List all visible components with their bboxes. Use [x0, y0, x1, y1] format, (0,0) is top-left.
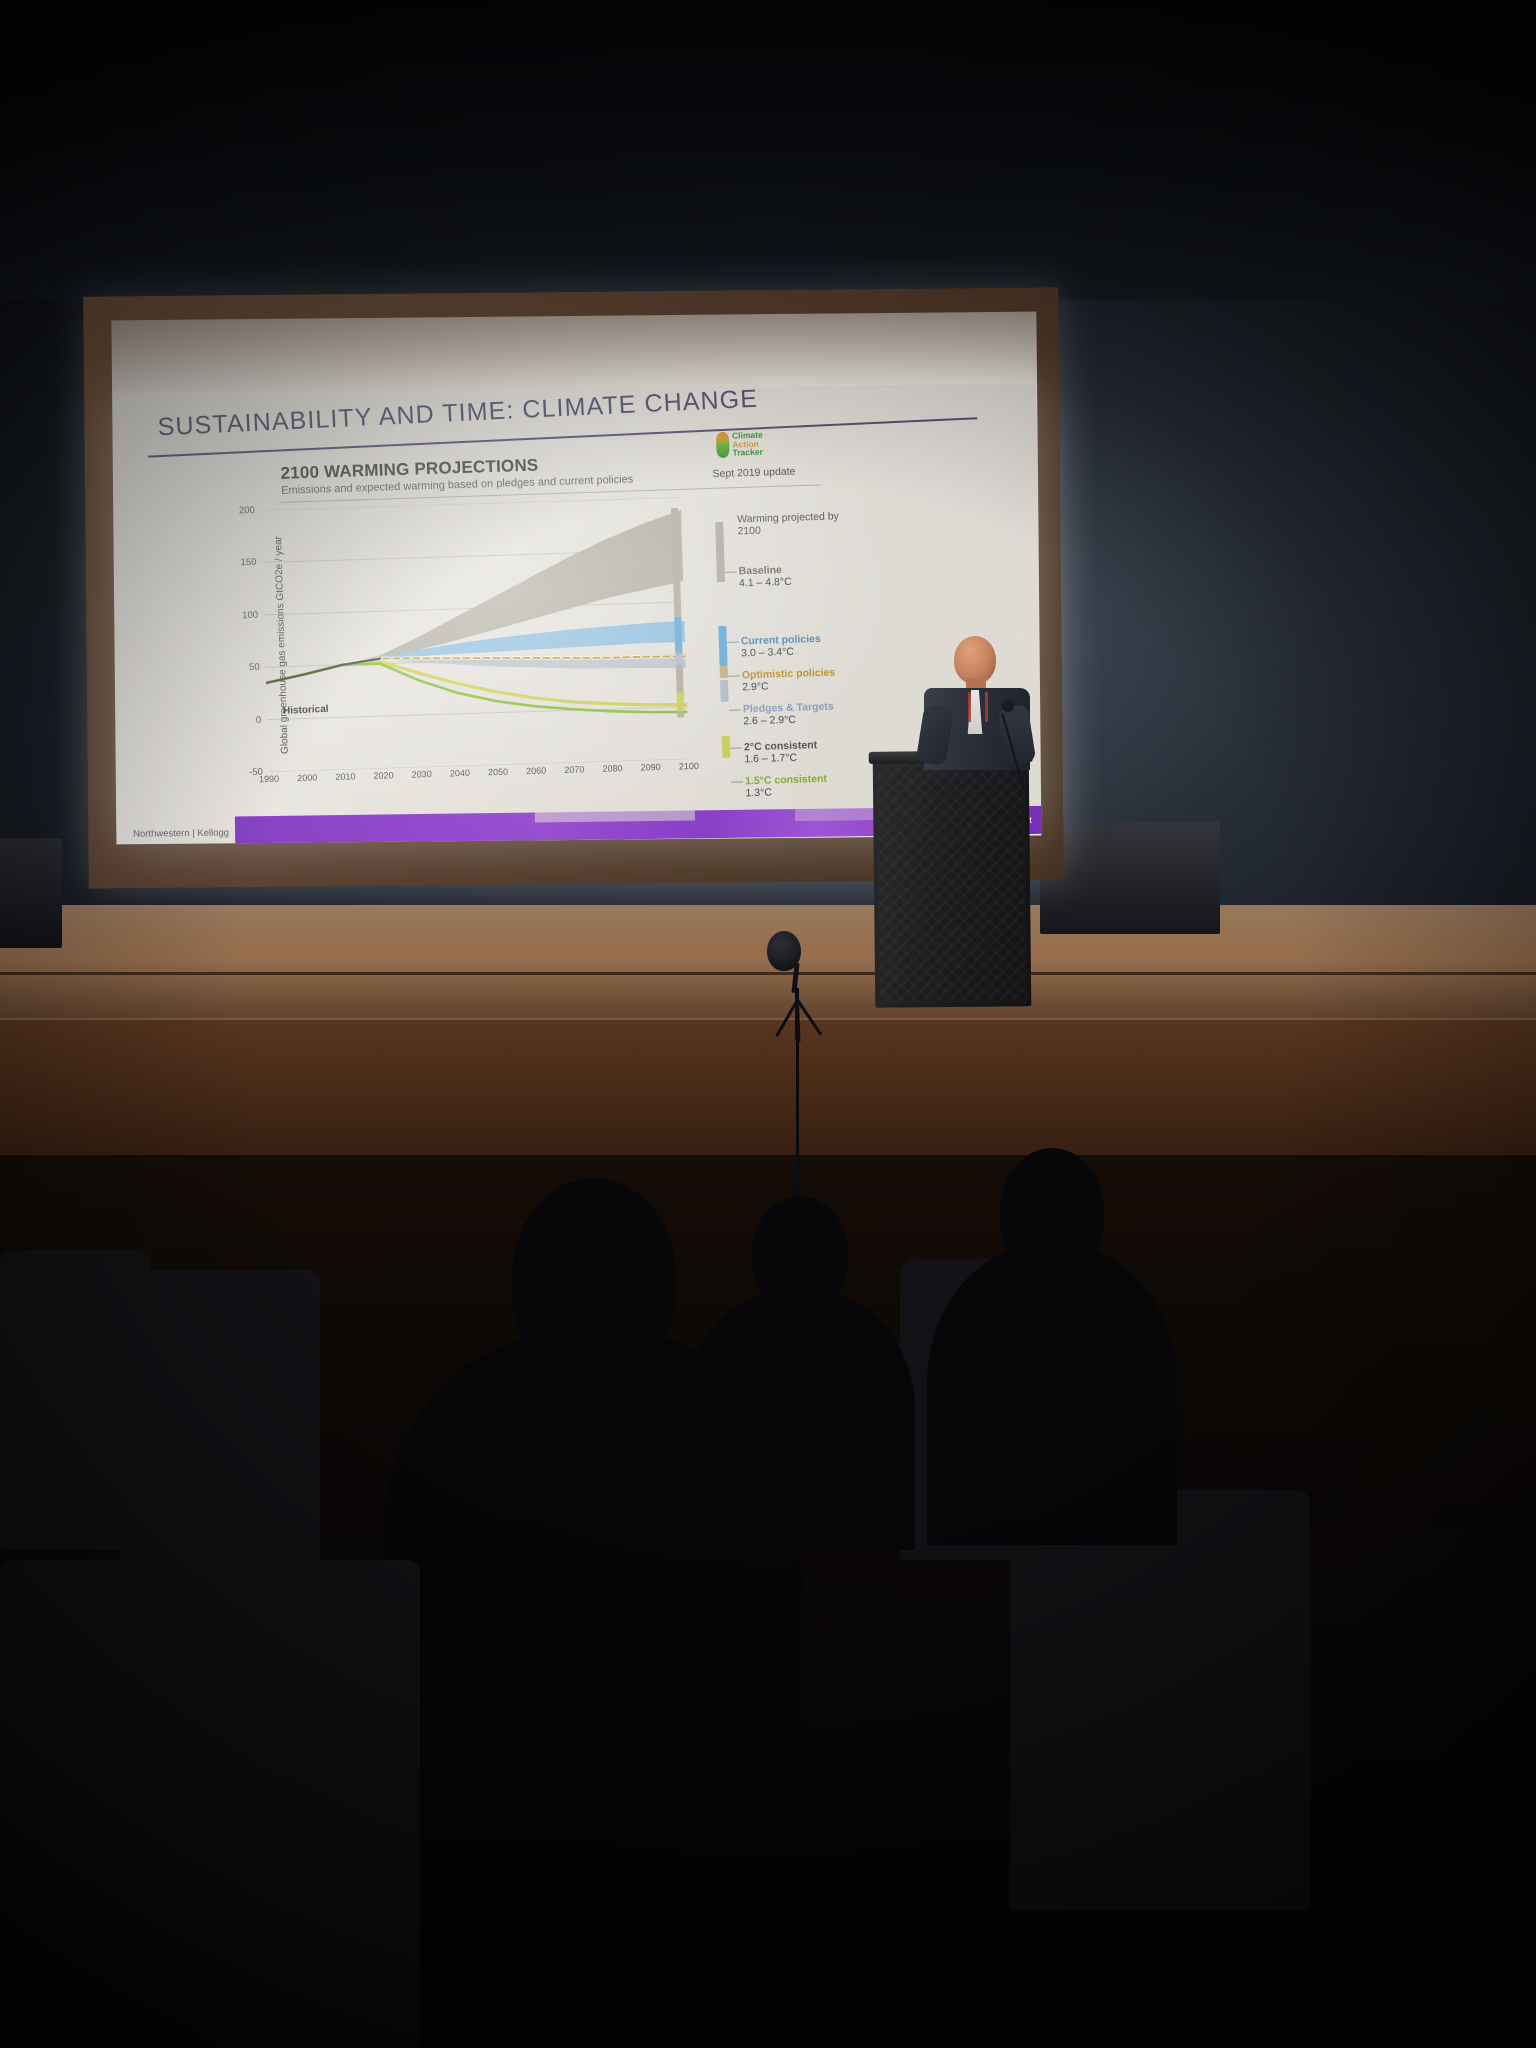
podium-microphone-head: [1002, 700, 1014, 712]
x-tick-2090: 2090: [641, 762, 661, 773]
chart-annotations: Warming projected by 2100Baseline4.1 – 4…: [713, 507, 963, 515]
x-tick-2000: 2000: [297, 773, 317, 784]
emissions-chart-plot-area: Global greenhouse gas emissions GtCO2e /…: [261, 497, 689, 772]
screen-light-spill: [111, 312, 1037, 395]
y-tick-200: 200: [239, 505, 255, 516]
annotation-value: 1.3°C: [745, 785, 827, 800]
annotation-swatch: [715, 522, 725, 582]
footer-notch-1: [535, 808, 695, 822]
chart-heading: 2100 WARMING PROJECTIONS Emissions and e…: [280, 452, 633, 496]
update-date-note: Sept 2019 update: [712, 466, 795, 481]
annotation-label: 2°C consistent: [744, 739, 817, 753]
annotation-swatch: [720, 680, 729, 702]
annotation-value: 1.6 – 1.7°C: [744, 751, 817, 765]
annotation-4: Pledges & Targets2.6 – 2.9°C: [743, 701, 835, 728]
x-tick-2080: 2080: [602, 763, 622, 774]
side-table-right: [1040, 822, 1220, 934]
audience-shoulders: [384, 1330, 804, 1760]
audience-head: [752, 1196, 848, 1308]
audience-seat: [120, 1270, 320, 1600]
annotation-swatch: [720, 666, 728, 678]
climate-action-tracker-logo: Climate Action Tracker: [716, 431, 764, 458]
annotation-value: 2.6 – 2.9°C: [743, 713, 834, 728]
annotation-leader-line: [725, 571, 737, 572]
page-title: SUSTAINABILITY AND TIME: CLIMATE CHANGE: [157, 385, 759, 443]
annotation-leader-line: [731, 781, 743, 782]
logo-line-3: Tracker: [732, 448, 763, 458]
annotation-swatch: [722, 736, 731, 758]
annotation-leader-line: [728, 675, 740, 676]
podium-texture: [877, 762, 1028, 1004]
annotation-leader-line: [727, 641, 739, 642]
speaker-lanyard: [968, 692, 988, 722]
annotation-2: Current policies3.0 – 3.4°C: [741, 633, 822, 660]
audience-head: [512, 1178, 676, 1374]
annotation-leader-line: [730, 747, 742, 748]
y-tick-100: 100: [242, 610, 258, 621]
annotation-swatch: [718, 626, 727, 666]
brand-wordmark: Northwestern | Kellogg: [133, 828, 229, 840]
annotation-1: Baseline4.1 – 4.8°C: [739, 564, 792, 590]
audience-head: [1000, 1148, 1104, 1272]
emissions-chart-svg: [261, 497, 689, 772]
tripod-leg-1: [796, 999, 822, 1035]
speaker-person: [918, 636, 1038, 768]
annotation-value: 2.9°C: [742, 679, 836, 694]
side-table-left: [0, 838, 62, 948]
annotation-leader-line: [729, 709, 741, 710]
x-tick-2100: 2100: [679, 761, 699, 772]
stage-floor-seam: [0, 972, 1536, 975]
auditorium-photo: SUSTAINABILITY AND TIME: CLIMATE CHANGE …: [0, 0, 1536, 2048]
x-tick-2060: 2060: [526, 766, 546, 777]
annotation-label: 1.5°C consistent: [745, 773, 827, 788]
annotation-5: 2°C consistent1.6 – 1.7°C: [744, 739, 818, 765]
audience-shoulders: [927, 1245, 1177, 1545]
x-tick-2010: 2010: [335, 771, 355, 782]
x-tick-2070: 2070: [564, 764, 584, 775]
stage-front-panel: [0, 1020, 1536, 1165]
y-tick-150: 150: [240, 557, 256, 568]
annotation-0: Warming projected by 2100: [737, 510, 848, 537]
tripod-leg-3: [775, 999, 799, 1037]
historical-label: Historical: [283, 704, 329, 717]
x-tick-2020: 2020: [373, 770, 393, 781]
thermometer-leaf-icon: [716, 432, 730, 458]
speaker-head: [954, 636, 996, 684]
x-tick-2050: 2050: [488, 767, 508, 778]
annotation-value: 3.0 – 3.4°C: [741, 645, 821, 659]
x-tick-1990: 1990: [259, 774, 279, 785]
logo-wordmark: Climate Action Tracker: [732, 431, 764, 458]
y-tick-0: 0: [256, 714, 262, 725]
annotation-value: 4.1 – 4.8°C: [739, 576, 792, 590]
x-tick-2030: 2030: [412, 769, 432, 780]
podium: [873, 756, 1032, 1008]
audience-seat: [0, 1560, 420, 2048]
y-tick-50: 50: [249, 662, 260, 673]
annotation-3: Optimistic policies2.9°C: [742, 667, 836, 694]
annotation-label: Warming projected by 2100: [737, 510, 848, 537]
annotation-6: 1.5°C consistent1.3°C: [745, 773, 828, 800]
x-tick-2040: 2040: [450, 768, 470, 779]
